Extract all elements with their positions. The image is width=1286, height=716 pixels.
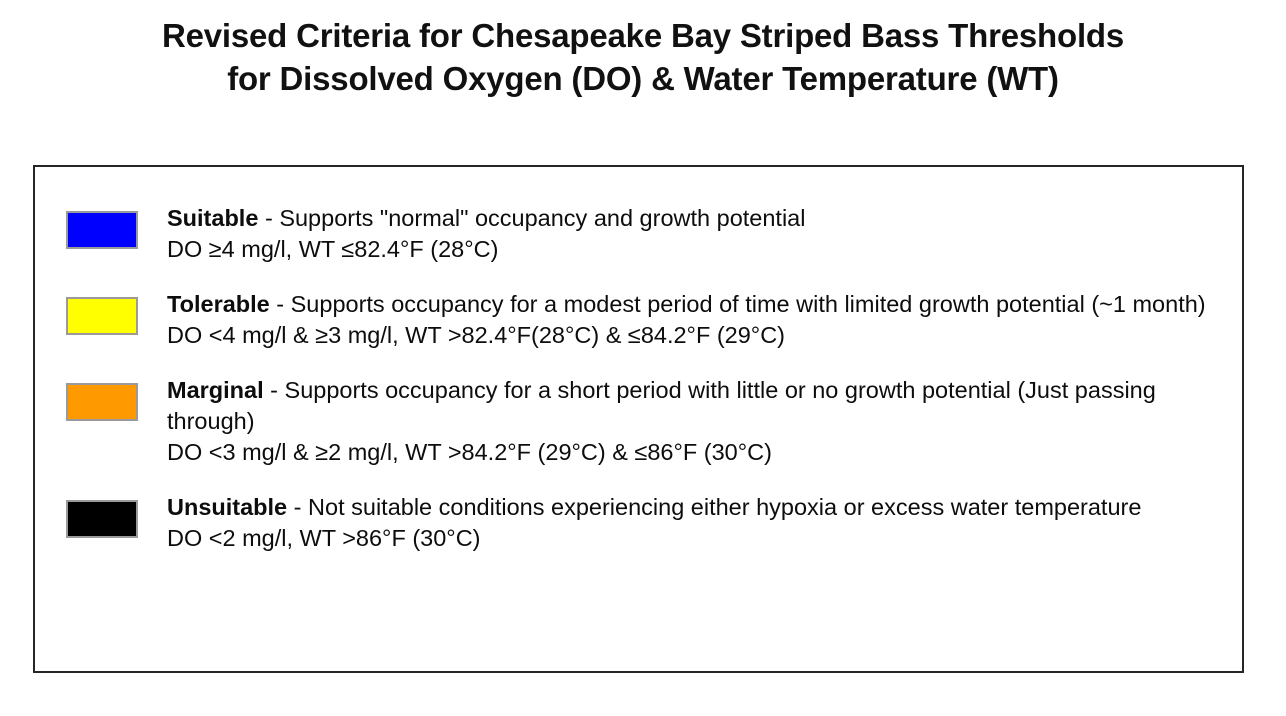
color-swatch-unsuitable — [66, 500, 138, 538]
legend-desc-text-marginal: Supports occupancy for a short period wi… — [167, 377, 1156, 434]
legend-text-unsuitable: Unsuitable - Not suitable conditions exp… — [138, 492, 1232, 554]
legend-item-marginal: Marginal - Supports occupancy for a shor… — [35, 375, 1242, 468]
color-swatch-marginal — [66, 383, 138, 421]
legend-desc-text-unsuitable: Not suitable conditions experiencing eit… — [308, 494, 1141, 520]
legend-term-unsuitable: Unsuitable — [167, 494, 287, 520]
legend-desc-text-tolerable: Supports occupancy for a modest period o… — [291, 291, 1206, 317]
legend-description-marginal: Marginal - Supports occupancy for a shor… — [167, 375, 1232, 437]
legend-term-marginal: Marginal — [167, 377, 264, 403]
legend-description-unsuitable: Unsuitable - Not suitable conditions exp… — [167, 492, 1232, 523]
page-title: Revised Criteria for Chesapeake Bay Stri… — [0, 14, 1286, 100]
legend-term-tolerable: Tolerable — [167, 291, 270, 317]
legend-description-suitable: Suitable - Supports "normal" occupancy a… — [167, 203, 1232, 234]
legend-item-suitable: Suitable - Supports "normal" occupancy a… — [35, 203, 1242, 265]
legend-text-tolerable: Tolerable - Supports occupancy for a mod… — [138, 289, 1232, 351]
legend-separator-unsuitable: - — [287, 494, 308, 520]
legend-separator-marginal: - — [264, 377, 285, 403]
legend-list: Suitable - Supports "normal" occupancy a… — [35, 167, 1242, 554]
legend-term-suitable: Suitable — [167, 205, 258, 231]
slide-canvas: Revised Criteria for Chesapeake Bay Stri… — [0, 0, 1286, 716]
color-swatch-suitable — [66, 211, 138, 249]
legend-separator-suitable: - — [258, 205, 279, 231]
legend-criteria-suitable: DO ≥4 mg/l, WT ≤82.4°F (28°C) — [167, 234, 1232, 265]
legend-criteria-marginal: DO <3 mg/l & ≥2 mg/l, WT >84.2°F (29°C) … — [167, 437, 1232, 468]
legend-criteria-tolerable: DO <4 mg/l & ≥3 mg/l, WT >82.4°F(28°C) &… — [167, 320, 1232, 351]
legend-separator-tolerable: - — [270, 291, 291, 317]
legend-desc-text-suitable: Supports "normal" occupancy and growth p… — [279, 205, 805, 231]
legend-text-marginal: Marginal - Supports occupancy for a shor… — [138, 375, 1232, 468]
legend-panel: Suitable - Supports "normal" occupancy a… — [33, 165, 1244, 673]
legend-item-unsuitable: Unsuitable - Not suitable conditions exp… — [35, 492, 1242, 554]
legend-criteria-unsuitable: DO <2 mg/l, WT >86°F (30°C) — [167, 523, 1232, 554]
legend-description-tolerable: Tolerable - Supports occupancy for a mod… — [167, 289, 1232, 320]
color-swatch-tolerable — [66, 297, 138, 335]
legend-item-tolerable: Tolerable - Supports occupancy for a mod… — [35, 289, 1242, 351]
legend-text-suitable: Suitable - Supports "normal" occupancy a… — [138, 203, 1232, 265]
